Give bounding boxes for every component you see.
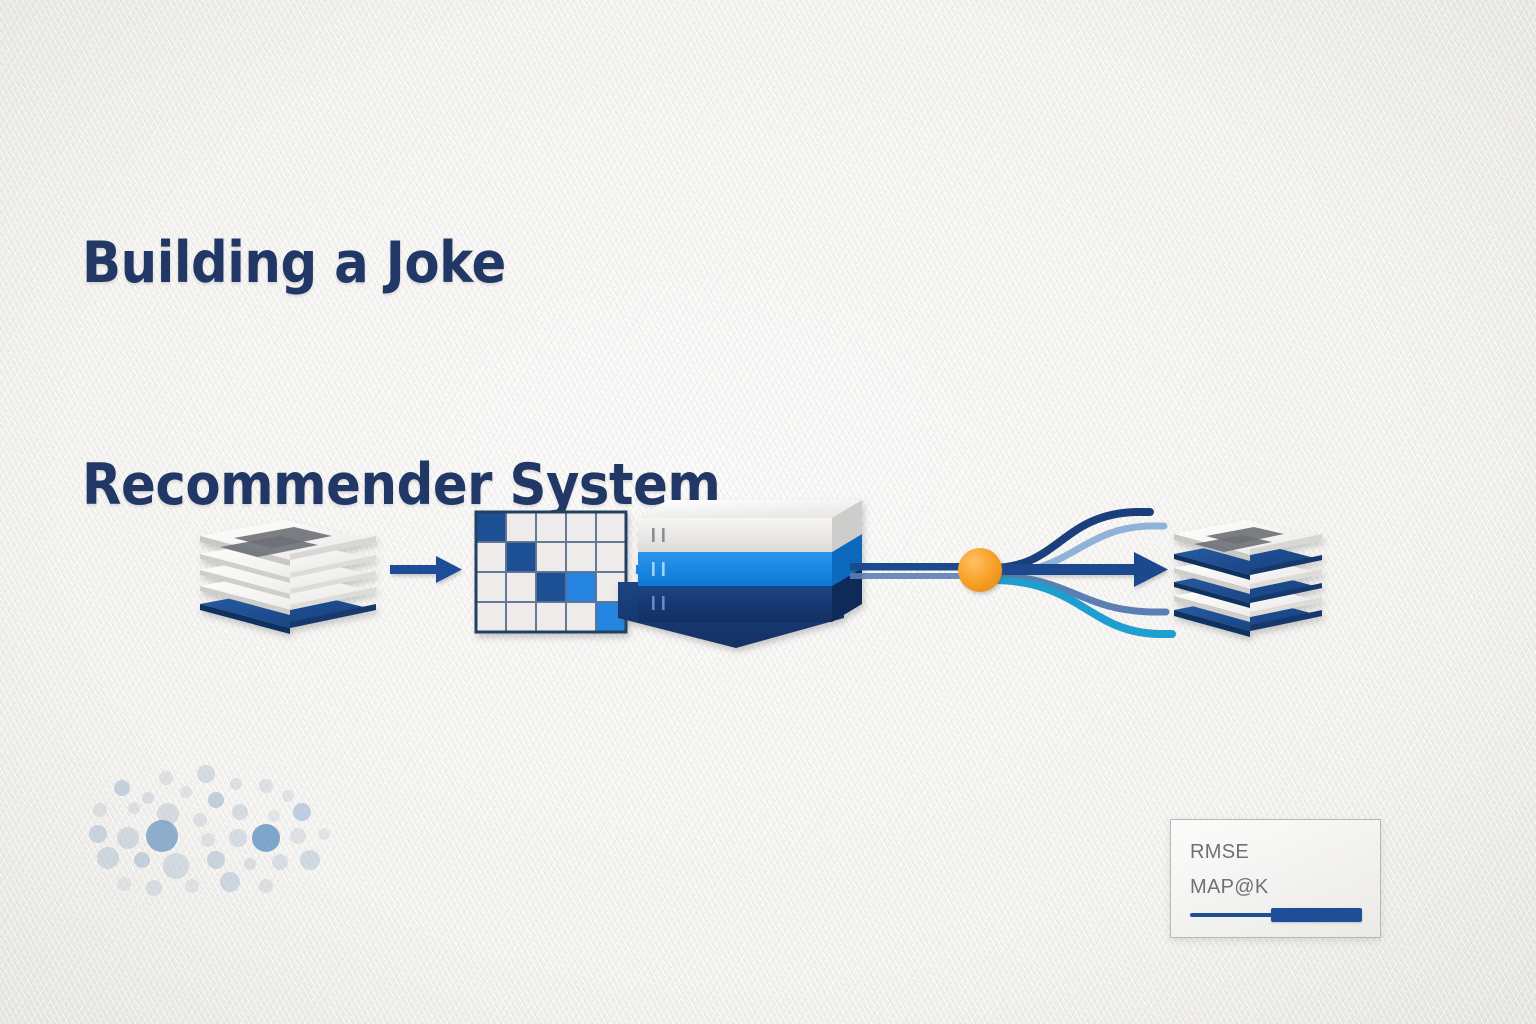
- legend-bar-track: [1190, 913, 1274, 917]
- title-line-1: Building a Joke: [82, 226, 720, 300]
- cluster-dot: [232, 804, 248, 820]
- cluster-dot: [282, 790, 294, 802]
- cluster-dot: [318, 828, 330, 840]
- cluster-dot: [293, 803, 311, 821]
- cluster-dot: [229, 829, 247, 847]
- cluster-dot: [159, 771, 173, 785]
- cluster-dot: [193, 813, 207, 827]
- cluster-dot: [180, 786, 192, 798]
- pipeline-illustration: [150, 470, 1400, 670]
- legend-progress-bar[interactable]: [1190, 908, 1362, 922]
- cluster-dot: [207, 851, 225, 869]
- legend-metric-rmse: RMSE: [1190, 835, 1380, 870]
- cluster-dot: [117, 877, 131, 891]
- cluster-dot: [272, 854, 288, 870]
- cluster-dot: [259, 879, 273, 893]
- arrow-documents-to-matrix: [390, 556, 462, 583]
- stage-ranking-node[interactable]: [958, 548, 1002, 592]
- stage-raw-joke-documents[interactable]: [200, 520, 376, 634]
- cluster-dot: [197, 765, 215, 783]
- cluster-dot: [128, 802, 140, 814]
- metrics-legend-card[interactable]: RMSE MAP@K: [1170, 819, 1381, 938]
- curve-fan-down-2: [992, 580, 1172, 634]
- cluster-dot: [244, 858, 256, 870]
- legend-bar-fill: [1271, 908, 1362, 922]
- stage-model-layers[interactable]: [618, 500, 862, 648]
- cluster-dot: [185, 879, 199, 893]
- curve-fan-up-1: [992, 512, 1150, 568]
- cluster-dot: [142, 792, 154, 804]
- stage-user-item-rating-matrix[interactable]: [476, 512, 626, 632]
- dot-cluster-ornament: [88, 762, 338, 902]
- cluster-dot: [93, 803, 107, 817]
- cluster-dot: [163, 853, 189, 879]
- cluster-dot: [146, 820, 178, 852]
- cluster-dot: [134, 852, 150, 868]
- legend-metric-mapk: MAP@K: [1190, 870, 1380, 905]
- cluster-dot: [230, 778, 242, 790]
- cluster-dot: [208, 792, 224, 808]
- cluster-dot: [201, 833, 215, 847]
- cluster-dot: [114, 780, 130, 796]
- stage-recommended-jokes[interactable]: [1174, 520, 1322, 637]
- cluster-dot: [300, 850, 320, 870]
- cluster-dot: [290, 828, 306, 844]
- cluster-dot: [252, 824, 280, 852]
- cluster-dot: [117, 827, 139, 849]
- cluster-dot: [268, 810, 280, 822]
- cluster-dot: [89, 825, 107, 843]
- poster-canvas: Building a Joke Recommender System: [0, 0, 1536, 1024]
- cluster-dot: [146, 880, 162, 896]
- cluster-dot: [259, 779, 273, 793]
- cluster-dot: [220, 872, 240, 892]
- cluster-dot: [97, 847, 119, 869]
